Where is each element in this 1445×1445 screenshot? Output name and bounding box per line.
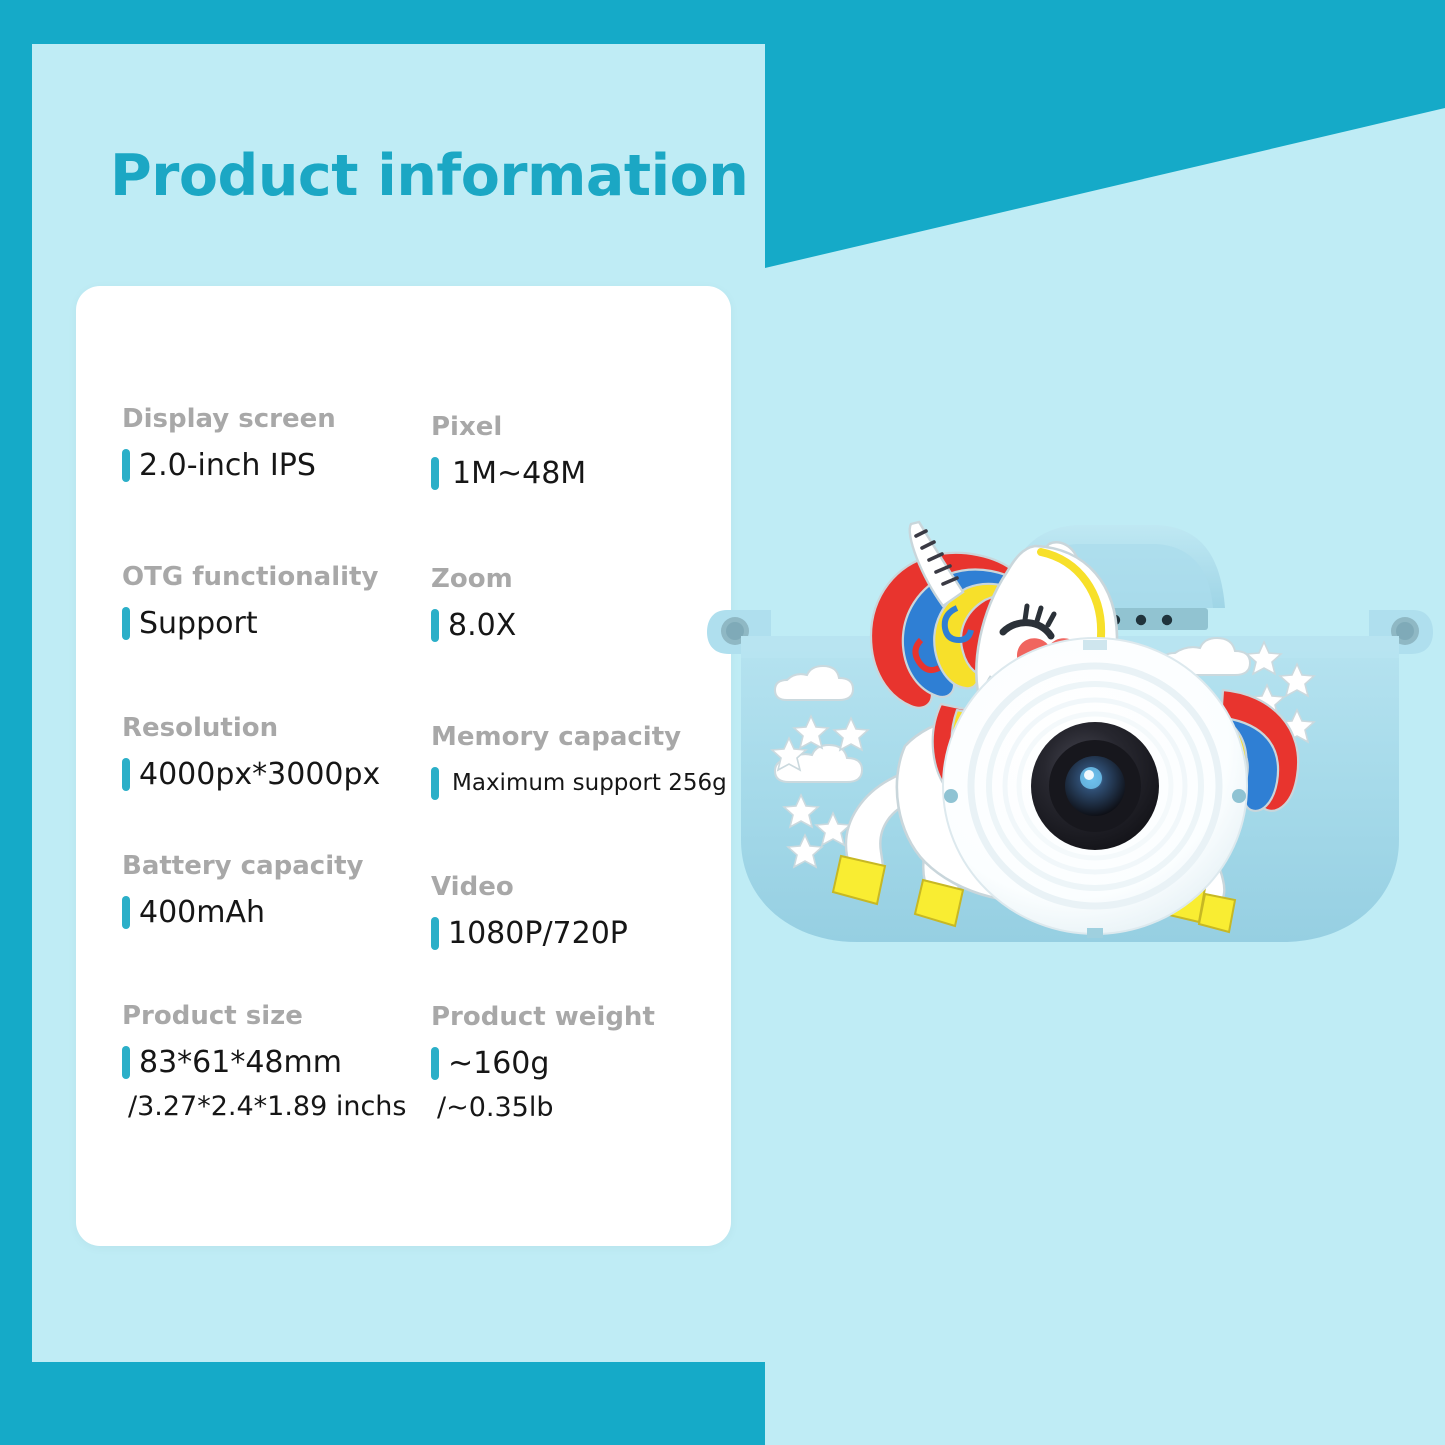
spec-value-row: 400mAh <box>122 896 364 929</box>
spec-item-zoom: Zoom 8.0X <box>431 566 516 642</box>
spec-label: Display screen <box>122 406 336 432</box>
spec-item-memory-capacity: Memory capacity Maximum support 256g <box>431 724 727 800</box>
spec-value: 400mAh <box>139 898 265 928</box>
spec-label: Battery capacity <box>122 853 364 879</box>
accent-bar-icon <box>122 607 130 640</box>
spec-value-row: 2.0-inch IPS <box>122 449 336 482</box>
spec-value: 2.0-inch IPS <box>139 451 316 481</box>
spec-value: 1M~48M <box>452 459 586 489</box>
spec-item-video: Video 1080P/720P <box>431 874 628 950</box>
spec-subvalue: /3.27*2.4*1.89 inchs <box>128 1093 407 1120</box>
spec-value-row: 4000px*3000px <box>122 758 380 791</box>
accent-bar-icon <box>431 457 439 490</box>
spec-value: 1080P/720P <box>448 919 628 949</box>
accent-bar-icon <box>431 1047 439 1080</box>
accent-bar-icon <box>431 917 439 950</box>
spec-value: Support <box>139 609 258 639</box>
spec-card: Display screen 2.0-inch IPS OTG function… <box>76 286 731 1246</box>
accent-bar-icon <box>431 609 439 642</box>
spec-label: Video <box>431 874 628 900</box>
spec-item-display-screen: Display screen 2.0-inch IPS <box>122 406 336 482</box>
spec-value: 83*61*48mm <box>139 1048 342 1078</box>
accent-bar-icon <box>431 767 439 800</box>
spec-value-row: Maximum support 256g <box>431 767 727 800</box>
spec-value-row: ~160g <box>431 1047 655 1080</box>
spec-item-resolution: Resolution 4000px*3000px <box>122 715 380 791</box>
spec-label: Product weight <box>431 1004 655 1030</box>
spec-value: 4000px*3000px <box>139 760 380 790</box>
spec-item-product-size: Product size 83*61*48mm /3.27*2.4*1.89 i… <box>122 1003 407 1120</box>
accent-bar-icon <box>122 449 130 482</box>
spec-item-otg-functionality: OTG functionality Support <box>122 564 378 640</box>
spec-label: Zoom <box>431 566 516 592</box>
accent-bar-icon <box>122 896 130 929</box>
spec-subvalue: /~0.35lb <box>437 1094 655 1121</box>
page-title: Product information <box>110 143 748 209</box>
spec-item-pixel: Pixel 1M~48M <box>431 414 586 490</box>
spec-label: Pixel <box>431 414 586 440</box>
spec-value-row: 8.0X <box>431 609 516 642</box>
spec-label: OTG functionality <box>122 564 378 590</box>
spec-value-row: 1080P/720P <box>431 917 628 950</box>
spec-value: ~160g <box>448 1049 549 1079</box>
product-image-unicorn-camera <box>705 490 1435 960</box>
spec-item-product-weight: Product weight ~160g /~0.35lb <box>431 1004 655 1121</box>
spec-item-battery-capacity: Battery capacity 400mAh <box>122 853 364 929</box>
spec-value-row: 83*61*48mm <box>122 1046 407 1079</box>
spec-label: Product size <box>122 1003 407 1029</box>
accent-bar-icon <box>122 1046 130 1079</box>
spec-value: Maximum support 256g <box>452 772 727 795</box>
spec-value-row: 1M~48M <box>431 457 586 490</box>
spec-value: 8.0X <box>448 611 516 641</box>
accent-bar-icon <box>122 758 130 791</box>
spec-label: Resolution <box>122 715 380 741</box>
camera-lens-assembly <box>943 638 1247 938</box>
spec-label: Memory capacity <box>431 724 727 750</box>
spec-value-row: Support <box>122 607 378 640</box>
